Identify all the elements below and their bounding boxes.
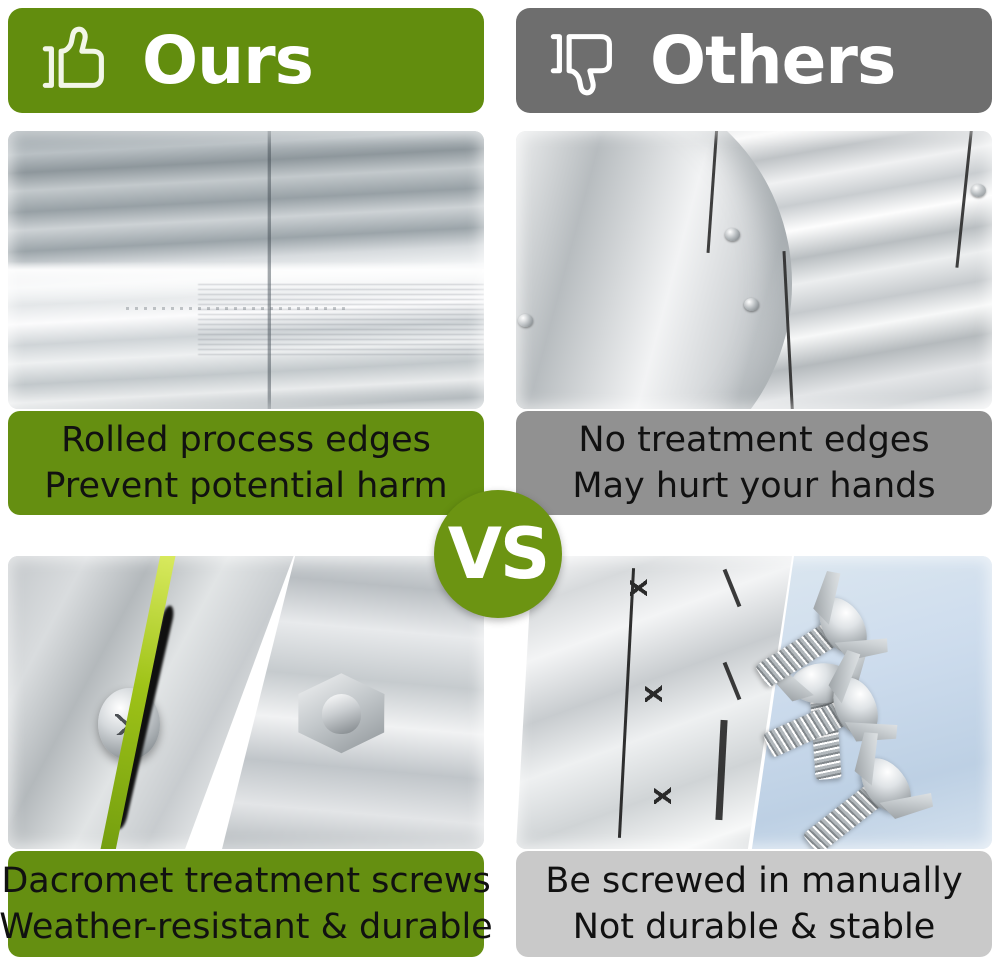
crooked-screw	[630, 579, 647, 596]
others-header: Others	[516, 8, 992, 113]
vs-label: VS	[448, 519, 549, 589]
others-top-caption: No treatment edges May hurt your hands	[516, 411, 992, 515]
others-bottom-photo	[516, 556, 992, 849]
scratched-panel	[516, 556, 792, 849]
others-top-photo	[516, 131, 992, 409]
vs-badge: VS	[434, 490, 562, 618]
metal-ring	[516, 131, 792, 409]
others-bottom-caption: Be screwed in manually Not durable & sta…	[516, 851, 992, 957]
thumbs-up-icon	[38, 22, 116, 100]
caption-line: No treatment edges	[578, 417, 929, 463]
ours-header-title: Ours	[142, 28, 313, 94]
ours-bottom-caption: Dacromet treatment screws Weather-resist…	[8, 851, 484, 957]
caption-line: Dacromet treatment screws	[1, 858, 490, 904]
others-header-title: Others	[650, 28, 895, 94]
caption-line: Not durable & stable	[573, 904, 936, 950]
caption-line: Weather-resistant & durable	[0, 904, 493, 950]
edge-crack-line	[956, 131, 974, 267]
ours-bottom-photo	[8, 556, 484, 849]
treated-screws-artwork	[8, 556, 484, 849]
exposed-screw	[971, 184, 986, 197]
caption-line: Rolled process edges	[61, 417, 431, 463]
thumbs-down-icon	[546, 22, 624, 100]
crooked-screw	[645, 685, 662, 702]
crooked-screw	[654, 787, 671, 804]
manual-screws-artwork	[516, 556, 992, 849]
caption-line: May hurt your hands	[572, 463, 935, 509]
caption-line: Be screwed in manually	[545, 858, 962, 904]
others-column: Others No treatment edges May hurt your …	[508, 0, 1000, 965]
ours-top-photo	[8, 131, 484, 409]
raw-edge-artwork	[516, 131, 992, 409]
caption-line: Prevent potential harm	[44, 463, 447, 509]
rolled-edge-artwork	[8, 131, 484, 409]
ours-header: Ours	[8, 8, 484, 113]
comparison-infographic: Ours Rolled process edges Prevent potent…	[0, 0, 1000, 965]
ours-top-caption: Rolled process edges Prevent potential h…	[8, 411, 484, 515]
ours-column: Ours Rolled process edges Prevent potent…	[0, 0, 492, 965]
